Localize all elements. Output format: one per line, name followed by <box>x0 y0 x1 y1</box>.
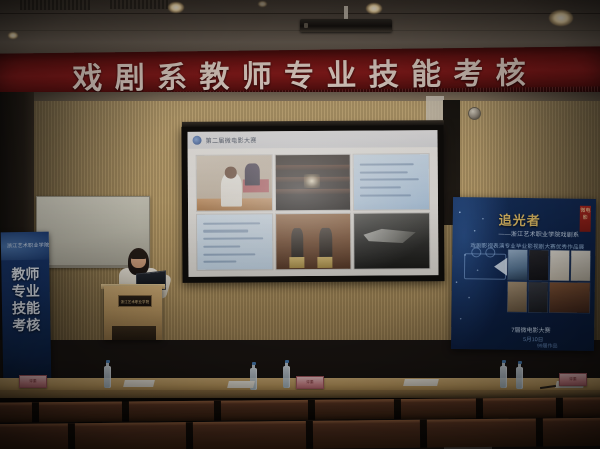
rollup-line-2: 专业 <box>2 283 50 301</box>
cell-text-line <box>203 261 236 263</box>
ceiling-spotlight <box>8 32 18 39</box>
cell-text-line <box>360 178 418 181</box>
paper-sheet <box>227 381 255 388</box>
water-bottle <box>283 366 290 388</box>
podium-base <box>112 326 156 340</box>
seat-divider <box>306 421 313 449</box>
poster-red-tag: 微电影 <box>580 206 591 232</box>
projection-screen: 第二届微电影大赛 <box>181 125 444 283</box>
cell-seat-row <box>275 165 350 170</box>
cell-text-line <box>203 245 240 247</box>
play-triangle-icon <box>494 258 507 276</box>
bottle-cap <box>502 360 506 363</box>
ceiling-vent <box>20 0 90 10</box>
poster-thumbnail <box>549 282 589 313</box>
judge-namecard-text: 评委 <box>297 377 323 388</box>
seat-divider <box>32 402 39 422</box>
ceiling-spotlight <box>258 1 267 7</box>
bottle-cap <box>285 360 289 363</box>
seat-divider <box>394 399 401 419</box>
cell-text-line <box>203 222 260 225</box>
judge-namecard-text: 评委 <box>20 376 46 387</box>
poster-subtitle: ——浙江艺术职业学院戏剧系 <box>499 229 580 239</box>
cell-seat-row <box>276 189 351 194</box>
ceiling-spotlight <box>366 3 382 14</box>
cell-figure <box>244 163 259 185</box>
rollup-line-4: 考核 <box>2 317 50 335</box>
cell-highlight <box>304 174 321 188</box>
ceiling-vent <box>110 0 170 9</box>
seat-divider <box>214 401 221 421</box>
cell-text-line <box>203 230 248 233</box>
poster-thumbnail <box>508 250 527 280</box>
slide-title: 第二届微电影大赛 <box>206 135 257 145</box>
judge-namecard: 评委 <box>559 373 587 386</box>
auditorium-scene: 戏 剧 系 教 师 专 业 技 能 考 核 第二届微电影大赛 <box>0 0 600 449</box>
judge-namecard: 评委 <box>19 375 47 388</box>
water-bottle <box>516 367 523 389</box>
ceiling-projector <box>300 19 392 32</box>
seat-divider <box>536 418 543 446</box>
cell-text-line <box>360 186 401 188</box>
cell-graphic <box>363 229 415 244</box>
cell-podium <box>289 257 304 268</box>
seat-divider <box>122 401 129 421</box>
poster-title: 追光者 <box>499 210 541 230</box>
cell-text-line <box>360 163 414 166</box>
poster-thumbnail-grid <box>507 250 590 313</box>
seat-divider <box>556 398 563 418</box>
seat-divider <box>308 400 315 420</box>
judge-namecard: 评委 <box>296 376 324 389</box>
presenter-fringe <box>130 250 147 259</box>
rollup-logo-text: 浙江艺术职业学院 <box>7 242 50 250</box>
paper-sheet <box>403 379 439 386</box>
cell-figure <box>291 228 304 260</box>
poster-thumbnail <box>529 250 548 280</box>
slide-body <box>188 147 439 277</box>
rollup-title: 教师 专业 技能 考核 <box>1 266 50 335</box>
bottle-cap <box>106 360 110 363</box>
podium-nameplate: 浙江艺术职业学院 <box>118 295 152 307</box>
cell-text-line <box>360 194 411 197</box>
bottle-cap <box>518 361 522 364</box>
water-bottle <box>500 366 507 388</box>
cell-text-line <box>360 171 408 174</box>
slide-titlebar: 第二届微电影大赛 <box>187 130 437 149</box>
ceiling-spotlight <box>549 10 573 26</box>
exhibition-poster: 微电影 追光者 ——浙江艺术职业学院戏剧系 戏剧影视表演专业毕业影视剧大赛优秀作… <box>451 197 596 351</box>
cell-text-line <box>203 237 263 240</box>
poster-footer-text: 7届微电影大赛 <box>511 325 550 335</box>
slide-cell <box>276 214 351 270</box>
slide-logo-icon <box>193 136 202 145</box>
judge-namecard-text: 评委 <box>560 374 586 385</box>
seat-row <box>0 418 600 449</box>
slide-cell <box>197 155 272 211</box>
paper-sheet <box>123 380 155 387</box>
projector-lens-icon <box>304 23 308 28</box>
screen-surface: 第二届微电影大赛 <box>187 130 438 277</box>
poster-thumbnail <box>507 282 526 312</box>
water-bottle <box>104 366 111 388</box>
podium-nameplate-text: 浙江艺术职业学院 <box>119 296 151 306</box>
rollup-line-3: 技能 <box>2 300 50 318</box>
seat-divider <box>420 420 427 448</box>
slide-cell <box>354 213 429 269</box>
poster-thumbnail <box>550 250 569 280</box>
seat-divider <box>476 398 483 418</box>
poster-thumbnail <box>571 251 590 281</box>
rollup-line-1: 教师 <box>1 266 49 284</box>
poster-footer-note: 99届作品 <box>537 342 558 349</box>
ceiling-spotlight <box>168 2 184 13</box>
seat-divider <box>186 422 193 449</box>
slide-cell <box>197 214 272 270</box>
slide-cell <box>354 154 429 210</box>
slide-thumbnail-grid <box>197 154 430 270</box>
bottle-cap <box>252 362 256 365</box>
wall-speaker-icon <box>468 107 481 120</box>
cell-figure <box>319 228 332 260</box>
poster-thumbnail <box>528 282 547 312</box>
seat-divider <box>68 423 75 449</box>
slide-cell <box>275 155 350 211</box>
cell-figure-head <box>225 167 236 179</box>
cell-text-line <box>203 253 255 256</box>
cell-podium <box>318 257 333 268</box>
ceiling-seam <box>0 13 600 14</box>
